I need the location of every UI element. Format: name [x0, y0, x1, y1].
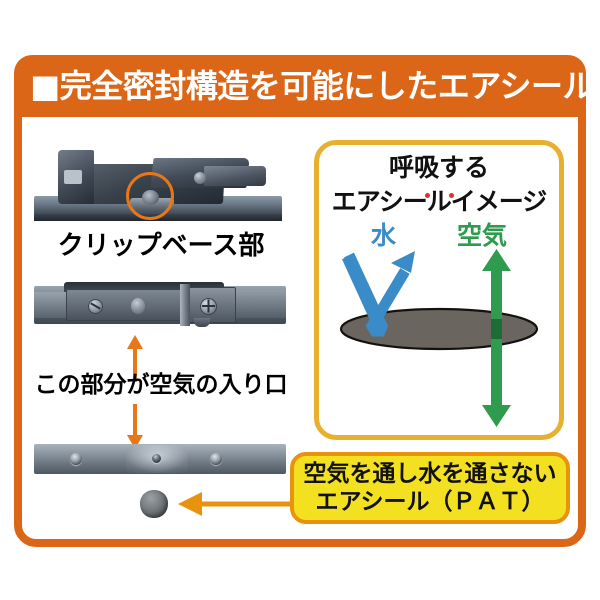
clip-plate-left [66, 289, 184, 321]
callout-line-2: エアシール（ＰＡＴ） [315, 488, 544, 516]
caption-air-intake: この部分が空気の入り口 [28, 373, 294, 398]
water-label: 水 [371, 223, 396, 248]
clip-nub [194, 318, 210, 327]
left-column: クリップベース部 この部分が空気の入り口 [28, 128, 306, 538]
photo-metal-strip [34, 438, 286, 480]
page-title: ■完全密封構造を可能にしたエアシール [30, 70, 594, 102]
rail-left-stub [34, 292, 66, 318]
air-seal-piece [140, 490, 168, 518]
clip-bridge [180, 284, 190, 326]
panel-heading-line2: エアシールイメージ [319, 189, 559, 215]
rail-right-stub [236, 290, 286, 318]
pat-callout-box: 空気を通し水を通さない エアシール（ＰＡＴ） [290, 452, 570, 524]
photo-clip-base-top [34, 276, 286, 334]
highlight-circle-icon [126, 172, 174, 220]
air-intake-hole [131, 298, 145, 314]
arrow-left-icon [176, 490, 296, 518]
screw-icon [88, 299, 103, 314]
screw-icon [200, 298, 217, 315]
strip-hole [210, 453, 222, 465]
photo-clip-base-side [34, 148, 282, 226]
air-label: 空気 [457, 223, 507, 248]
clip-arm-secondary [204, 166, 266, 186]
strip-hole [70, 453, 82, 465]
panel-heading-line1: 呼吸する [319, 155, 559, 181]
clip-hook-notch [64, 170, 82, 184]
airflow-diagram [319, 249, 559, 429]
caption-clip-base: クリップベース部 [28, 232, 294, 261]
screw-icon [194, 172, 206, 184]
strip-hole-air [152, 454, 161, 463]
title-bar: ■完全密封構造を可能にしたエアシール [14, 55, 586, 117]
air-seal-image-panel: 呼吸する エアシールイメージ 水 空気 [314, 140, 564, 440]
page-root: ■完全密封構造を可能にしたエアシール クリップベース部 [0, 0, 600, 600]
content-area: クリップベース部 この部分が空気の入り口 [22, 120, 578, 540]
callout-line-1: 空気を通し水を通さない [304, 460, 557, 488]
